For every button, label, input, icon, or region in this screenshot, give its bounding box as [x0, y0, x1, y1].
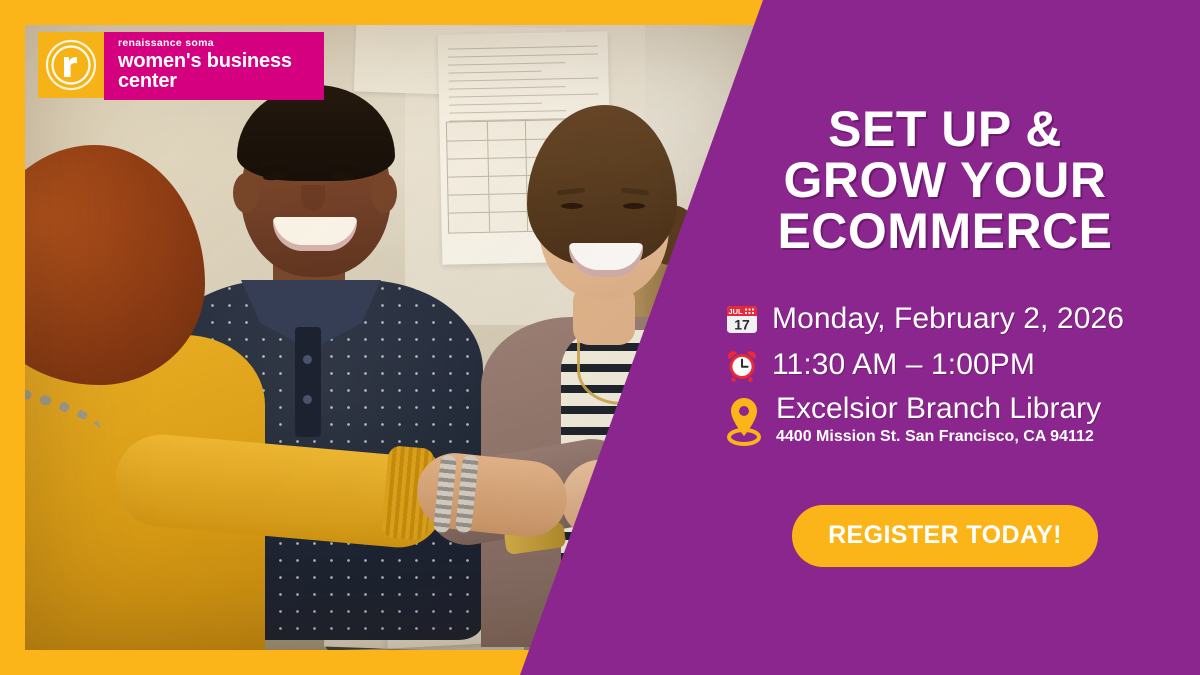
map-pin-icon: [724, 395, 764, 447]
logo-line1: women's business: [118, 51, 310, 72]
event-flyer: renaissance soma women's business center…: [0, 0, 1200, 675]
title-line-1: SET UP &: [710, 104, 1180, 155]
logo-wordmark: renaissance soma women's business center: [104, 32, 324, 100]
svg-text:17: 17: [734, 317, 750, 333]
page-title: SET UP & GROW YOUR ECOMMERCE: [710, 104, 1180, 257]
detail-row-location: Excelsior Branch Library 4400 Mission St…: [724, 393, 1180, 449]
event-time: 11:30 AM – 1:00PM: [772, 348, 1035, 382]
calendar-icon: JUL 17: [724, 301, 760, 337]
svg-text:JUL: JUL: [728, 307, 743, 316]
logo-line2: center: [118, 71, 310, 92]
detail-row-time: 11:30 AM – 1:00PM: [724, 347, 1180, 383]
detail-row-date: JUL 17 Monday, February 2, 2026: [724, 301, 1180, 337]
title-line-2: GROW YOUR: [710, 155, 1180, 206]
logo-eyebrow: renaissance soma: [118, 38, 310, 50]
event-info-panel: SET UP & GROW YOUR ECOMMERCE JUL 17: [690, 0, 1200, 675]
title-line-3: ECOMMERCE: [710, 206, 1180, 257]
alarm-clock-icon: [724, 347, 760, 383]
cta-container: REGISTER TODAY!: [710, 505, 1180, 567]
event-address: 4400 Mission St. San Francisco, CA 94112: [776, 425, 1101, 449]
location-text: Excelsior Branch Library 4400 Mission St…: [776, 393, 1101, 449]
event-details: JUL 17 Monday, February 2, 2026: [710, 301, 1180, 449]
event-venue: Excelsior Branch Library: [776, 393, 1101, 425]
logo-mark-icon: [38, 32, 104, 98]
register-today-button[interactable]: REGISTER TODAY!: [792, 505, 1098, 567]
logo[interactable]: renaissance soma women's business center: [38, 32, 324, 100]
event-date: Monday, February 2, 2026: [772, 302, 1124, 336]
